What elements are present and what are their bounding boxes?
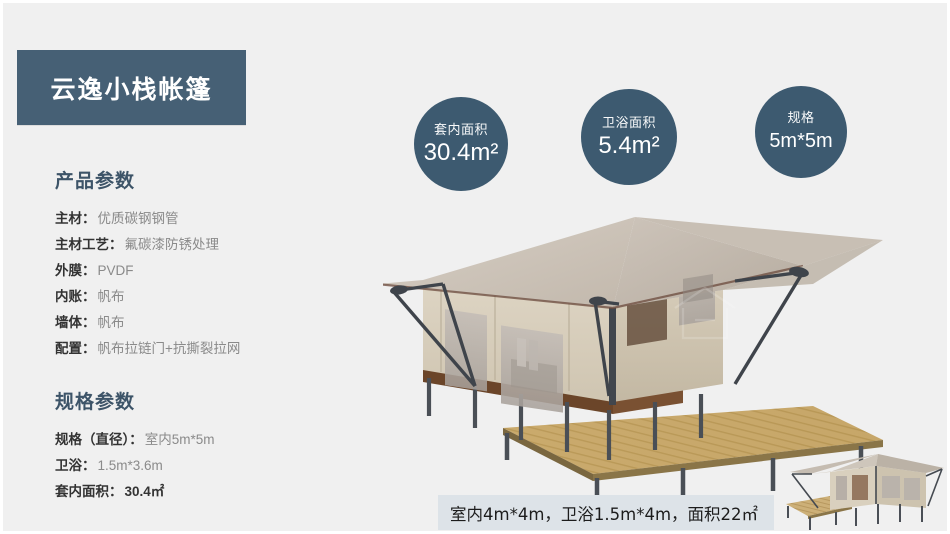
roof-left-panel xyxy=(383,217,635,308)
slide-canvas: 云逸小栈帐篷 产品参数 主材：优质碳钢钢管 主材工艺：氟碳漆防锈处理 外膜：PV… xyxy=(0,0,950,534)
title-banner: 云逸小栈帐篷 xyxy=(17,50,246,125)
spec-value: 室内5m*5m xyxy=(145,432,215,447)
spec-row: 内账：帆布 xyxy=(55,284,355,310)
stat-badge-size: 规格 5m*5m xyxy=(755,86,847,178)
thumb-wall-left xyxy=(830,466,876,510)
window xyxy=(445,309,487,391)
page-title: 云逸小栈帐篷 xyxy=(50,70,212,106)
stat-badge-label: 规格 xyxy=(787,109,814,127)
spec-key: 墙体： xyxy=(55,315,96,330)
spec-section-product: 产品参数 主材：优质碳钢钢管 主材工艺：氟碳漆防锈处理 外膜：PVDF 内账：帆… xyxy=(55,166,355,362)
spec-row: 墙体：帆布 xyxy=(55,310,355,336)
tent-thumbnail-svg xyxy=(778,446,950,534)
spec-panel: 产品参数 主材：优质碳钢钢管 主材工艺：氟碳漆防锈处理 外膜：PVDF 内账：帆… xyxy=(55,166,355,505)
caption-band: 室内4m*4m，卫浴1.5m*4m，面积22㎡ xyxy=(438,495,774,530)
spec-row: 卫浴：1.5m*3.6m xyxy=(55,453,355,479)
support-struts xyxy=(393,272,803,396)
spec-value: 帆布拉链门+抗撕裂拉网 xyxy=(98,341,241,356)
spec-row: 主材工艺：氟碳漆防锈处理 xyxy=(55,232,355,258)
spec-value: 30.4㎡ xyxy=(125,484,165,499)
roof-awning-right xyxy=(723,240,883,290)
thumb-roof-right xyxy=(876,454,944,473)
thumb-wall-right xyxy=(876,466,926,508)
spec-key: 配置： xyxy=(55,341,96,356)
strut-cap xyxy=(389,265,809,305)
spec-key: 外膜： xyxy=(55,263,96,278)
interior-furnishings xyxy=(511,274,713,394)
spec-value: 氟碳漆防锈处理 xyxy=(125,237,220,252)
wall-left xyxy=(423,280,613,402)
caption-text: 室内4m*4m，卫浴1.5m*4m，面积22㎡ xyxy=(450,501,758,525)
spec-key: 套内面积： xyxy=(55,484,123,499)
spec-row: 主材：优质碳钢钢管 xyxy=(55,206,355,232)
floor-skirt-left xyxy=(423,366,613,414)
window xyxy=(501,325,563,412)
stat-badge-label: 套内面积 xyxy=(434,121,488,139)
spec-value: 帆布 xyxy=(98,315,125,330)
tent-thumbnail xyxy=(778,446,950,534)
spec-key: 内账： xyxy=(55,289,96,304)
corner-post xyxy=(609,303,616,405)
doorway xyxy=(627,267,667,346)
watermark-icon xyxy=(675,288,735,338)
stat-badge-bathroom: 卫浴面积 5.4m² xyxy=(581,89,677,185)
window xyxy=(679,252,715,326)
spec-row: 规格（直径）：室内5m*5m xyxy=(55,427,355,453)
stat-badge-value: 5.4m² xyxy=(598,132,659,160)
stat-badge-area: 套内面积 30.4m² xyxy=(414,97,508,191)
wall-right xyxy=(613,290,723,402)
roof-eave xyxy=(383,266,803,308)
spec-value: 1.5m*3.6m xyxy=(98,458,163,473)
spec-section-dimensions: 规格参数 规格（直径）：室内5m*5m 卫浴：1.5m*3.6m 套内面积：30… xyxy=(55,387,355,505)
spec-key: 主材： xyxy=(55,211,96,226)
spec-key: 规格（直径）： xyxy=(55,432,143,447)
spec-value: 帆布 xyxy=(98,289,125,304)
roof-right-panel xyxy=(613,217,803,308)
roof-ridge-panel xyxy=(635,217,883,266)
stat-badge-value: 5m*5m xyxy=(769,127,832,155)
thumb-deck xyxy=(786,496,852,516)
spec-row: 套内面积：30.4㎡ xyxy=(55,479,355,505)
tent-render-svg xyxy=(383,188,950,508)
stat-badge-value: 30.4m² xyxy=(424,139,499,167)
thumb-roof-left xyxy=(810,454,878,474)
deck-surface xyxy=(503,406,883,474)
section-heading-product: 产品参数 xyxy=(55,166,355,193)
spec-key: 主材工艺： xyxy=(55,237,123,252)
spec-row: 配置：帆布拉链门+抗撕裂拉网 xyxy=(55,336,355,362)
deck-edge xyxy=(593,440,883,481)
spec-key: 卫浴： xyxy=(55,458,96,473)
tent-stilts xyxy=(429,378,701,460)
section-heading-dimensions: 规格参数 xyxy=(55,387,355,414)
spec-value: PVDF xyxy=(98,263,134,278)
stat-badge-label: 卫浴面积 xyxy=(602,114,656,132)
floor-skirt-right xyxy=(613,387,683,414)
spec-value: 优质碳钢钢管 xyxy=(98,211,179,226)
spec-row: 外膜：PVDF xyxy=(55,258,355,284)
tent-illustration xyxy=(383,188,950,508)
